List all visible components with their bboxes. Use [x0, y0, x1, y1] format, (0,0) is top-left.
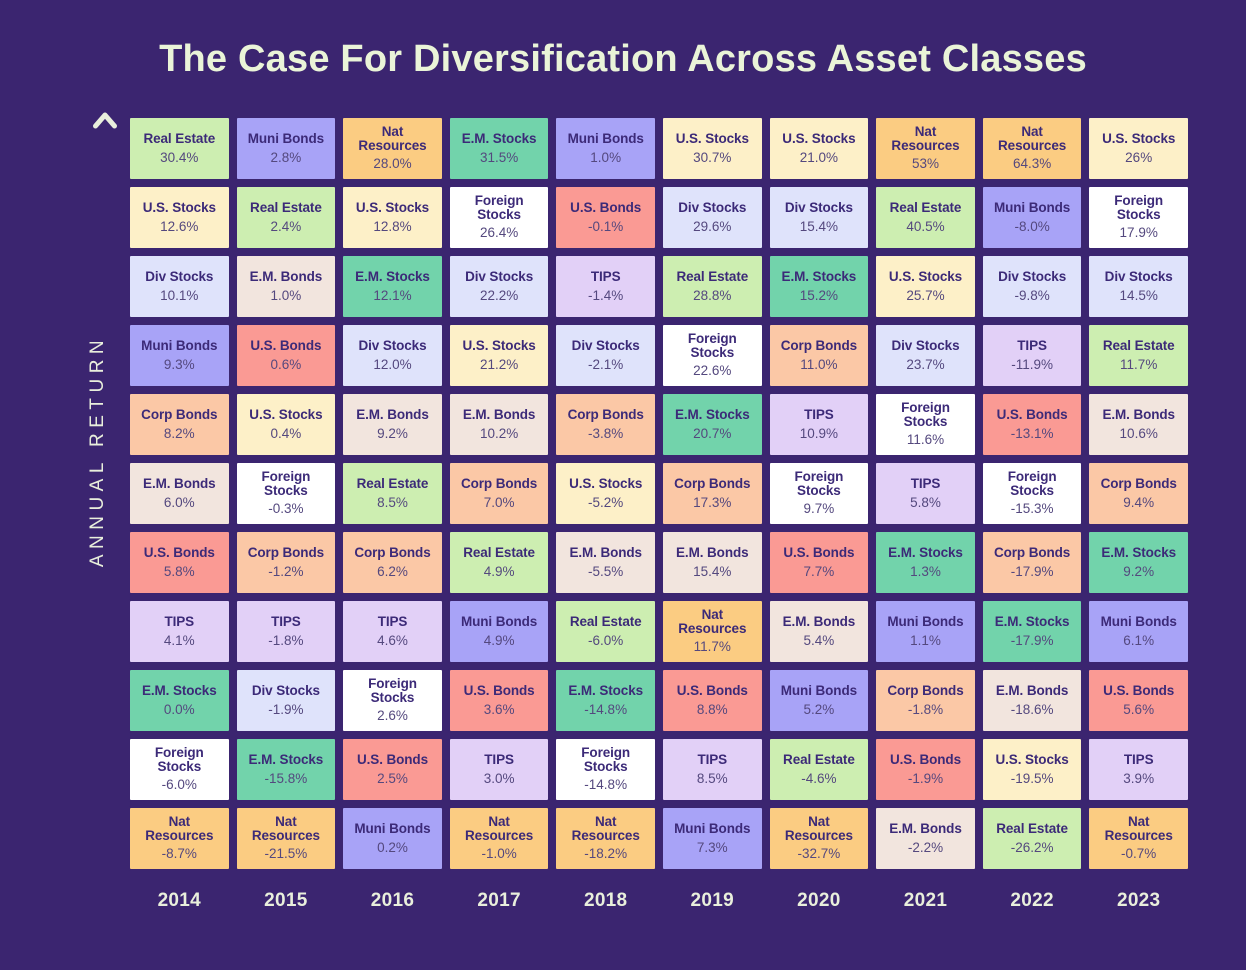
year-label: 2022 — [981, 890, 1084, 912]
cell-return-value: -15.3% — [1011, 500, 1054, 517]
cell-return-value: -3.8% — [588, 425, 623, 442]
grid-cell: Real Estate30.4% — [128, 116, 231, 181]
cell-asset-name: Muni Bonds — [248, 131, 324, 146]
cell-return-value: 12.6% — [160, 218, 198, 235]
cell-asset-name: E.M. Stocks — [995, 614, 1070, 629]
cell-return-value: 9.7% — [804, 500, 835, 517]
grid-cell: E.M. Bonds-2.2% — [874, 806, 977, 871]
cell-return-value: -5.5% — [588, 563, 623, 580]
cell-return-value: 3.6% — [484, 701, 515, 718]
cell-return-value: 12.1% — [373, 287, 411, 304]
cell-asset-name: E.M. Bonds — [569, 545, 642, 560]
cell-asset-name: Div Stocks — [891, 338, 959, 353]
grid-cell: TIPS3.0% — [448, 737, 551, 802]
grid-cell: Corp Bonds9.4% — [1087, 461, 1190, 526]
cell-asset-name: U.S. Bonds — [1103, 683, 1174, 698]
grid-cell: Real Estate40.5% — [874, 185, 977, 250]
cell-asset-name: Div Stocks — [252, 683, 320, 698]
cell-return-value: 15.4% — [693, 563, 731, 580]
cell-return-value: 0.2% — [377, 839, 408, 856]
grid-cell: E.M. Stocks15.2% — [768, 254, 871, 319]
cell-return-value: 10.9% — [800, 425, 838, 442]
cell-asset-name: Real Estate — [783, 752, 855, 767]
cell-return-value: 2.4% — [271, 218, 302, 235]
cell-asset-name: Real Estate — [250, 200, 322, 215]
grid-cell: Div Stocks-9.8% — [981, 254, 1084, 319]
grid-cell: U.S. Bonds7.7% — [768, 530, 871, 595]
cell-return-value: 1.1% — [910, 632, 941, 649]
grid-cell: Real Estate-26.2% — [981, 806, 1084, 871]
cell-return-value: -17.9% — [1011, 563, 1054, 580]
cell-return-value: 4.6% — [377, 632, 408, 649]
cell-return-value: 1.0% — [271, 287, 302, 304]
cell-asset-name: Nat Resources — [453, 815, 546, 843]
grid-cell: Real Estate-4.6% — [768, 737, 871, 802]
year-label: 2019 — [661, 890, 764, 912]
grid-cell: Muni Bonds9.3% — [128, 323, 231, 388]
cell-return-value: 1.0% — [590, 149, 621, 166]
grid-cell: Real Estate2.4% — [235, 185, 338, 250]
cell-asset-name: TIPS — [1017, 338, 1047, 353]
cell-asset-name: TIPS — [484, 752, 514, 767]
grid-cell: TIPS4.6% — [341, 599, 444, 664]
cell-return-value: 20.7% — [693, 425, 731, 442]
year-label: 2018 — [554, 890, 657, 912]
cell-return-value: 7.7% — [804, 563, 835, 580]
grid-cell: Nat Resources-21.5% — [235, 806, 338, 871]
grid-cell: U.S. Stocks25.7% — [874, 254, 977, 319]
cell-asset-name: E.M. Bonds — [356, 407, 429, 422]
grid-cell: E.M. Bonds10.6% — [1087, 392, 1190, 457]
cell-asset-name: Div Stocks — [465, 269, 533, 284]
grid-cell: U.S. Stocks-19.5% — [981, 737, 1084, 802]
grid-cell: Foreign Stocks26.4% — [448, 185, 551, 250]
grid-cell: Foreign Stocks-6.0% — [128, 737, 231, 802]
cell-asset-name: TIPS — [271, 614, 301, 629]
grid-cell: Nat Resources-1.0% — [448, 806, 551, 871]
cell-return-value: 6.0% — [164, 494, 195, 511]
grid-cell: Corp Bonds-17.9% — [981, 530, 1084, 595]
cell-asset-name: E.M. Stocks — [888, 545, 963, 560]
cell-return-value: 64.3% — [1013, 155, 1051, 172]
grid-cell: Foreign Stocks17.9% — [1087, 185, 1190, 250]
cell-return-value: 6.1% — [1123, 632, 1154, 649]
cell-return-value: 53% — [912, 155, 939, 172]
cell-asset-name: Foreign Stocks — [559, 746, 652, 774]
cell-asset-name: E.M. Bonds — [463, 407, 536, 422]
cell-asset-name: Nat Resources — [559, 815, 652, 843]
grid-cell: Div Stocks15.4% — [768, 185, 871, 250]
cell-asset-name: E.M. Bonds — [250, 269, 323, 284]
cell-return-value: -17.9% — [1011, 632, 1054, 649]
cell-asset-name: TIPS — [1124, 752, 1154, 767]
cell-asset-name: Real Estate — [890, 200, 962, 215]
cell-return-value: 0.4% — [271, 425, 302, 442]
grid-cell: E.M. Stocks1.3% — [874, 530, 977, 595]
year-label: 2014 — [128, 890, 231, 912]
cell-return-value: 21.0% — [800, 149, 838, 166]
cell-asset-name: U.S. Bonds — [570, 200, 641, 215]
year-label: 2020 — [768, 890, 871, 912]
grid-cell: E.M. Stocks12.1% — [341, 254, 444, 319]
cell-asset-name: Nat Resources — [773, 815, 866, 843]
cell-asset-name: TIPS — [804, 407, 834, 422]
cell-return-value: 28.0% — [373, 155, 411, 172]
cell-return-value: 9.2% — [1123, 563, 1154, 580]
grid-cell: Corp Bonds8.2% — [128, 392, 231, 457]
grid-cell: Foreign Stocks-0.3% — [235, 461, 338, 526]
grid-cell: E.M. Stocks0.0% — [128, 668, 231, 733]
cell-return-value: -26.2% — [1011, 839, 1054, 856]
grid-cell: U.S. Stocks21.0% — [768, 116, 871, 181]
grid-cell: Div Stocks23.7% — [874, 323, 977, 388]
grid-cell: U.S. Bonds-1.9% — [874, 737, 977, 802]
cell-asset-name: Corp Bonds — [248, 545, 324, 560]
cell-asset-name: U.S. Stocks — [569, 476, 642, 491]
cell-asset-name: Muni Bonds — [994, 200, 1070, 215]
cell-asset-name: E.M. Stocks — [782, 269, 857, 284]
cell-asset-name: Div Stocks — [785, 200, 853, 215]
cell-return-value: 9.4% — [1123, 494, 1154, 511]
cell-return-value: 5.8% — [910, 494, 941, 511]
cell-return-value: 7.3% — [697, 839, 728, 856]
cell-return-value: 15.4% — [800, 218, 838, 235]
y-axis: ANNUAL RETURN — [48, 110, 120, 885]
cell-return-value: -13.1% — [1011, 425, 1054, 442]
cell-asset-name: U.S. Stocks — [143, 200, 216, 215]
cell-return-value: -0.3% — [268, 500, 303, 517]
cell-return-value: -14.8% — [584, 701, 627, 718]
grid-cell: Real Estate-6.0% — [554, 599, 657, 664]
cell-return-value: 5.6% — [1123, 701, 1154, 718]
grid-cell: Muni Bonds6.1% — [1087, 599, 1190, 664]
cell-asset-name: Div Stocks — [358, 338, 426, 353]
cell-asset-name: TIPS — [378, 614, 408, 629]
grid-cell: Foreign Stocks22.6% — [661, 323, 764, 388]
cell-asset-name: U.S. Bonds — [997, 407, 1068, 422]
cell-return-value: 12.0% — [373, 356, 411, 373]
cell-return-value: 0.0% — [164, 701, 195, 718]
cell-asset-name: Foreign Stocks — [133, 746, 226, 774]
grid-cell: E.M. Bonds5.4% — [768, 599, 871, 664]
cell-asset-name: U.S. Stocks — [463, 338, 536, 353]
cell-return-value: 8.8% — [697, 701, 728, 718]
cell-asset-name: E.M. Bonds — [889, 821, 962, 836]
cell-asset-name: U.S. Bonds — [250, 338, 321, 353]
cell-return-value: 11.6% — [907, 431, 944, 448]
cell-return-value: 4.9% — [484, 632, 515, 649]
grid-cell: Corp Bonds7.0% — [448, 461, 551, 526]
cell-return-value: -19.5% — [1011, 770, 1054, 787]
cell-return-value: 21.2% — [480, 356, 518, 373]
cell-asset-name: U.S. Bonds — [144, 545, 215, 560]
cell-return-value: -6.0% — [588, 632, 623, 649]
cell-asset-name: E.M. Bonds — [1102, 407, 1175, 422]
cell-asset-name: Muni Bonds — [568, 131, 644, 146]
grid-cell: Nat Resources-0.7% — [1087, 806, 1190, 871]
grid-cell: Foreign Stocks-15.3% — [981, 461, 1084, 526]
cell-return-value: -9.8% — [1014, 287, 1049, 304]
cell-asset-name: E.M. Bonds — [783, 614, 856, 629]
cell-return-value: -5.2% — [588, 494, 623, 511]
cell-return-value: 5.2% — [804, 701, 835, 718]
grid-cell: Real Estate28.8% — [661, 254, 764, 319]
grid-cell: U.S. Bonds5.6% — [1087, 668, 1190, 733]
x-axis-year-labels: 2014201520162017201820192020202120222023 — [128, 890, 1190, 912]
year-label: 2017 — [448, 890, 551, 912]
grid-cell: Muni Bonds-8.0% — [981, 185, 1084, 250]
cell-return-value: 4.1% — [164, 632, 195, 649]
grid-cell: Corp Bonds-1.2% — [235, 530, 338, 595]
cell-asset-name: Nat Resources — [346, 125, 439, 153]
grid-cell: E.M. Stocks31.5% — [448, 116, 551, 181]
cell-return-value: 2.8% — [271, 149, 302, 166]
cell-return-value: -8.7% — [162, 845, 197, 862]
grid-cell: Corp Bonds-3.8% — [554, 392, 657, 457]
grid-cell: U.S. Stocks12.6% — [128, 185, 231, 250]
grid-cell: U.S. Bonds2.5% — [341, 737, 444, 802]
cell-return-value: 22.6% — [693, 362, 731, 379]
grid-cell: E.M. Bonds9.2% — [341, 392, 444, 457]
cell-asset-name: Foreign Stocks — [240, 470, 333, 498]
cell-return-value: 15.2% — [800, 287, 838, 304]
cell-return-value: -1.2% — [268, 563, 303, 580]
cell-return-value: -2.2% — [908, 839, 943, 856]
grid-cell: E.M. Stocks9.2% — [1087, 530, 1190, 595]
cell-asset-name: Div Stocks — [1105, 269, 1173, 284]
cell-asset-name: Div Stocks — [145, 269, 213, 284]
cell-return-value: -15.8% — [265, 770, 308, 787]
grid-cell: E.M. Stocks-14.8% — [554, 668, 657, 733]
grid-cell: TIPS4.1% — [128, 599, 231, 664]
grid-cell: Nat Resources64.3% — [981, 116, 1084, 181]
cell-asset-name: E.M. Bonds — [996, 683, 1069, 698]
cell-asset-name: Muni Bonds — [1101, 614, 1177, 629]
cell-asset-name: Real Estate — [143, 131, 215, 146]
cell-asset-name: Muni Bonds — [781, 683, 857, 698]
grid-cell: U.S. Bonds8.8% — [661, 668, 764, 733]
cell-asset-name: Corp Bonds — [354, 545, 430, 560]
cell-asset-name: E.M. Stocks — [568, 683, 643, 698]
grid-cell: Nat Resources53% — [874, 116, 977, 181]
cell-return-value: 17.3% — [693, 494, 731, 511]
grid-cell: Corp Bonds-1.8% — [874, 668, 977, 733]
cell-return-value: 3.9% — [1123, 770, 1154, 787]
cell-asset-name: U.S. Stocks — [782, 131, 855, 146]
cell-return-value: -0.1% — [588, 218, 623, 235]
grid-cell: Muni Bonds4.9% — [448, 599, 551, 664]
grid-cell: Div Stocks29.6% — [661, 185, 764, 250]
cell-return-value: 8.2% — [164, 425, 195, 442]
cell-return-value: 28.8% — [693, 287, 731, 304]
cell-asset-name: Muni Bonds — [887, 614, 963, 629]
grid-cell: U.S. Stocks-5.2% — [554, 461, 657, 526]
cell-asset-name: Real Estate — [1103, 338, 1175, 353]
cell-asset-name: E.M. Stocks — [249, 752, 324, 767]
cell-asset-name: Nat Resources — [1092, 815, 1185, 843]
up-arrow-dashed-icon — [92, 110, 118, 885]
cell-return-value: -1.9% — [908, 770, 943, 787]
cell-return-value: -1.9% — [268, 701, 303, 718]
cell-return-value: 17.9% — [1120, 224, 1158, 241]
grid-cell: TIPS8.5% — [661, 737, 764, 802]
grid-cell: Nat Resources11.7% — [661, 599, 764, 664]
cell-return-value: -2.1% — [588, 356, 623, 373]
grid-cell: Foreign Stocks9.7% — [768, 461, 871, 526]
year-label: 2021 — [874, 890, 977, 912]
grid-cell: E.M. Stocks-17.9% — [981, 599, 1084, 664]
grid-cell: Foreign Stocks2.6% — [341, 668, 444, 733]
year-label: 2015 — [235, 890, 338, 912]
cell-return-value: 11.0% — [800, 356, 837, 373]
cell-asset-name: Foreign Stocks — [879, 401, 972, 429]
grid-cell: Foreign Stocks-14.8% — [554, 737, 657, 802]
grid-cell: Corp Bonds11.0% — [768, 323, 871, 388]
cell-asset-name: Foreign Stocks — [986, 470, 1079, 498]
cell-return-value: -18.6% — [1011, 701, 1054, 718]
grid-cell: E.M. Stocks-15.8% — [235, 737, 338, 802]
cell-asset-name: U.S. Stocks — [356, 200, 429, 215]
year-label: 2023 — [1087, 890, 1190, 912]
cell-return-value: 30.4% — [160, 149, 198, 166]
grid-cell: E.M. Stocks20.7% — [661, 392, 764, 457]
cell-return-value: 2.5% — [377, 770, 408, 787]
cell-return-value: 9.3% — [164, 356, 195, 373]
cell-return-value: 12.8% — [373, 218, 411, 235]
grid-cell: Real Estate4.9% — [448, 530, 551, 595]
cell-asset-name: Corp Bonds — [1101, 476, 1177, 491]
grid-cell: Div Stocks10.1% — [128, 254, 231, 319]
cell-asset-name: Foreign Stocks — [773, 470, 866, 498]
cell-return-value: 5.4% — [804, 632, 835, 649]
cell-return-value: 9.2% — [377, 425, 408, 442]
cell-return-value: -8.0% — [1014, 218, 1049, 235]
grid-cell: E.M. Bonds6.0% — [128, 461, 231, 526]
cell-return-value: 0.6% — [271, 356, 302, 373]
cell-asset-name: Corp Bonds — [674, 476, 750, 491]
cell-return-value: -4.6% — [801, 770, 836, 787]
cell-return-value: -1.4% — [588, 287, 623, 304]
grid-cell: E.M. Bonds15.4% — [661, 530, 764, 595]
grid-cell: Muni Bonds1.0% — [554, 116, 657, 181]
grid-cell: Div Stocks14.5% — [1087, 254, 1190, 319]
cell-asset-name: Nat Resources — [240, 815, 333, 843]
grid-cell: U.S. Stocks26% — [1087, 116, 1190, 181]
cell-asset-name: Muni Bonds — [141, 338, 217, 353]
cell-return-value: -0.7% — [1121, 845, 1156, 862]
returns-grid: Real Estate30.4%Muni Bonds2.8%Nat Resour… — [128, 116, 1190, 871]
grid-cell: Real Estate8.5% — [341, 461, 444, 526]
cell-return-value: 11.7% — [1120, 356, 1157, 373]
grid-cell: E.M. Bonds-5.5% — [554, 530, 657, 595]
cell-return-value: 6.2% — [377, 563, 408, 580]
cell-return-value: 7.0% — [484, 494, 515, 511]
grid-cell: U.S. Stocks30.7% — [661, 116, 764, 181]
cell-asset-name: U.S. Stocks — [249, 407, 322, 422]
grid-cell: E.M. Bonds1.0% — [235, 254, 338, 319]
cell-asset-name: Corp Bonds — [887, 683, 963, 698]
grid-cell: U.S. Bonds5.8% — [128, 530, 231, 595]
cell-return-value: 29.6% — [693, 218, 731, 235]
cell-return-value: 8.5% — [377, 494, 408, 511]
cell-asset-name: Nat Resources — [986, 125, 1079, 153]
cell-asset-name: U.S. Bonds — [464, 683, 535, 698]
cell-asset-name: U.S. Bonds — [677, 683, 748, 698]
cell-asset-name: Foreign Stocks — [453, 194, 546, 222]
cell-asset-name: E.M. Stocks — [1101, 545, 1176, 560]
grid-cell: Nat Resources-8.7% — [128, 806, 231, 871]
cell-return-value: 1.3% — [910, 563, 941, 580]
cell-asset-name: Muni Bonds — [354, 821, 430, 836]
cell-return-value: -1.0% — [481, 845, 516, 862]
grid-cell: E.M. Bonds-18.6% — [981, 668, 1084, 733]
cell-return-value: 26% — [1125, 149, 1152, 166]
cell-asset-name: U.S. Stocks — [676, 131, 749, 146]
cell-asset-name: TIPS — [164, 614, 194, 629]
cell-return-value: -14.8% — [584, 776, 627, 793]
cell-asset-name: Nat Resources — [666, 608, 759, 636]
cell-return-value: -21.5% — [265, 845, 308, 862]
cell-asset-name: Foreign Stocks — [346, 677, 439, 705]
grid-cell: TIPS-11.9% — [981, 323, 1084, 388]
cell-return-value: 22.2% — [480, 287, 518, 304]
cell-asset-name: U.S. Stocks — [889, 269, 962, 284]
cell-return-value: 14.5% — [1120, 287, 1158, 304]
cell-asset-name: Nat Resources — [879, 125, 972, 153]
cell-return-value: -6.0% — [162, 776, 197, 793]
grid-cell: Div Stocks-2.1% — [554, 323, 657, 388]
cell-asset-name: Real Estate — [996, 821, 1068, 836]
cell-asset-name: TIPS — [911, 476, 941, 491]
grid-cell: U.S. Bonds-0.1% — [554, 185, 657, 250]
grid-cell: Real Estate11.7% — [1087, 323, 1190, 388]
grid-cell: Muni Bonds1.1% — [874, 599, 977, 664]
cell-asset-name: Real Estate — [357, 476, 429, 491]
cell-return-value: 40.5% — [906, 218, 944, 235]
cell-return-value: 2.6% — [377, 707, 408, 724]
grid-cell: TIPS10.9% — [768, 392, 871, 457]
cell-return-value: -11.9% — [1011, 356, 1053, 373]
grid-cell: Corp Bonds6.2% — [341, 530, 444, 595]
grid-cell: Muni Bonds5.2% — [768, 668, 871, 733]
cell-return-value: 31.5% — [480, 149, 518, 166]
cell-return-value: -1.8% — [268, 632, 303, 649]
cell-return-value: -1.8% — [908, 701, 943, 718]
cell-asset-name: E.M. Stocks — [675, 407, 750, 422]
cell-asset-name: Div Stocks — [572, 338, 640, 353]
cell-asset-name: Real Estate — [676, 269, 748, 284]
cell-return-value: 5.8% — [164, 563, 195, 580]
cell-asset-name: Real Estate — [463, 545, 535, 560]
grid-cell: Nat Resources28.0% — [341, 116, 444, 181]
cell-asset-name: Corp Bonds — [781, 338, 857, 353]
grid-cell: Muni Bonds0.2% — [341, 806, 444, 871]
cell-asset-name: TIPS — [697, 752, 727, 767]
grid-cell: U.S. Stocks12.8% — [341, 185, 444, 250]
grid-cell: E.M. Bonds10.2% — [448, 392, 551, 457]
year-label: 2016 — [341, 890, 444, 912]
cell-asset-name: Corp Bonds — [141, 407, 217, 422]
cell-asset-name: Corp Bonds — [461, 476, 537, 491]
cell-asset-name: Div Stocks — [678, 200, 746, 215]
cell-return-value: 3.0% — [484, 770, 515, 787]
cell-return-value: 8.5% — [697, 770, 728, 787]
grid-cell: Muni Bonds7.3% — [661, 806, 764, 871]
grid-cell: U.S. Bonds3.6% — [448, 668, 551, 733]
infographic-root: The Case For Diversification Across Asse… — [0, 0, 1246, 970]
cell-asset-name: Div Stocks — [998, 269, 1066, 284]
cell-asset-name: Muni Bonds — [674, 821, 750, 836]
